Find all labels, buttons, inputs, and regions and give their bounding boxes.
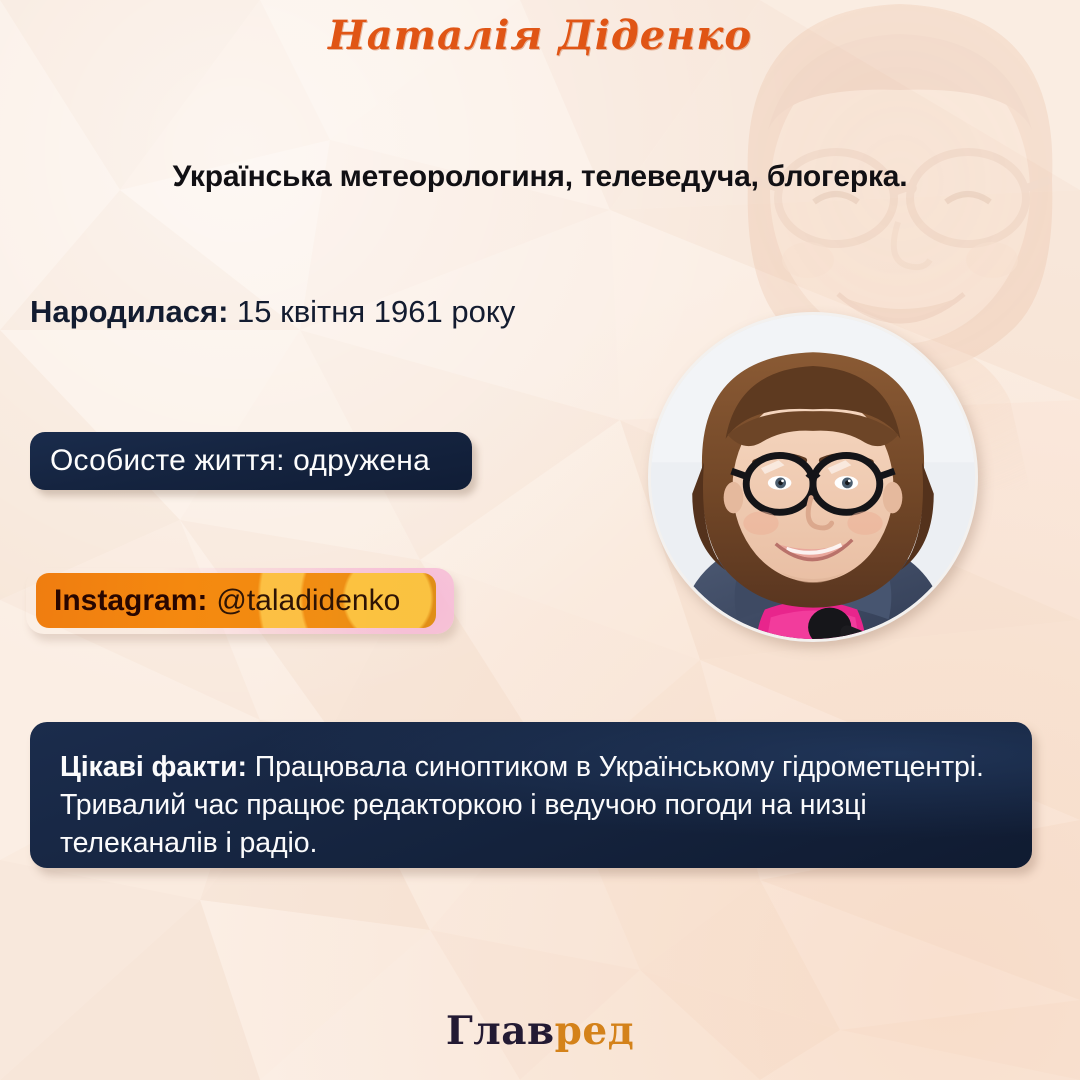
avatar <box>648 312 978 642</box>
infographic-card: Наталія Діденко Українська метеорологиня… <box>0 0 1080 1080</box>
page-title: Наталія Діденко <box>0 14 1080 57</box>
logo-part-two: ред <box>555 1008 635 1054</box>
personal-life-badge: Особисте життя: одружена <box>30 432 472 490</box>
instagram-badge[interactable]: Instagram: @taladidenko <box>26 568 454 634</box>
birth-line: Народилася: 15 квітня 1961 року <box>30 294 515 330</box>
birth-value: 15 квітня 1961 року <box>237 294 515 329</box>
page-subtitle: Українська метеорологиня, телеведуча, бл… <box>0 160 1080 194</box>
portrait-illustration <box>651 315 975 639</box>
instagram-badge-inner[interactable]: Instagram: @taladidenko <box>36 573 436 628</box>
instagram-handle[interactable]: @taladidenko <box>216 584 400 618</box>
brand-logo[interactable]: Главред <box>0 1008 1080 1054</box>
facts-label: Цікаві факти: <box>60 751 247 783</box>
logo-part-one: Глав <box>446 1008 555 1054</box>
birth-label: Народилася: <box>30 294 228 329</box>
personal-life-text: Особисте життя: одружена <box>50 444 430 478</box>
instagram-label: Instagram: <box>54 584 207 618</box>
facts-box: Цікаві факти: Працювала синоптиком в Укр… <box>30 722 1032 868</box>
